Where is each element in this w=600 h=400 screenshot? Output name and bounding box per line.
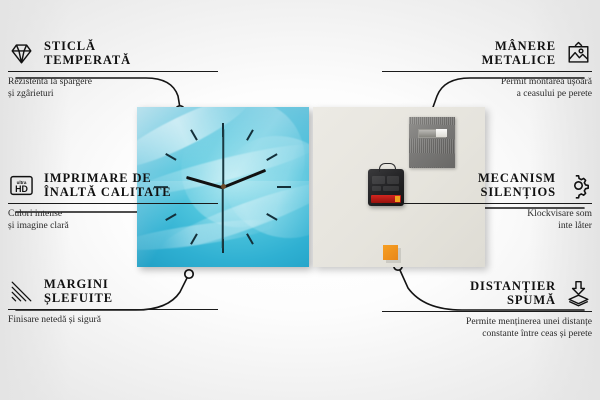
feature-title: DISTANȚIER [470, 280, 556, 294]
callout-metal-handles: MÂNERE METALICE Permit montarea ușoară a… [382, 40, 592, 99]
divider [382, 71, 592, 72]
divider [8, 71, 218, 72]
callout-high-quality-print: ultra HD IMPRIMARE DE ÎNALTĂ CALITATE Cu… [8, 172, 218, 231]
endpoint-edges [185, 270, 193, 278]
mechanism-hanger [379, 163, 396, 172]
feature-desc: și imagine clară [8, 220, 218, 231]
feature-title: TEMPERATĂ [44, 54, 131, 68]
metal-hanger-swatch [409, 117, 455, 168]
feature-desc: constante între ceas și perete [382, 328, 592, 339]
gear-icon [565, 172, 592, 199]
callout-silent-mechanism: MECANISM SILENȚIOS Klockvisare som inte … [382, 172, 592, 231]
infographic-canvas: STICLĂ TEMPERATĂ Rezistentă la spargere … [0, 0, 600, 400]
feature-title: ÎNALTĂ CALITATE [44, 186, 172, 200]
hatched-edge-icon [8, 278, 35, 305]
feature-desc: Klockvisare som [382, 208, 592, 219]
feature-title: IMPRIMARE DE [44, 172, 172, 186]
callout-polished-edges: MARGINI ȘLEFUITE Finisare netedă și sigu… [8, 278, 218, 326]
callout-foam-spacer: DISTANȚIER SPUMĂ Permite menținerea unei… [382, 280, 592, 339]
feature-desc: Permite menținerea unei distanțe [382, 316, 592, 327]
feature-title: MECANISM [478, 172, 556, 186]
divider [8, 309, 218, 310]
foam-spacer [383, 245, 398, 260]
feature-desc: și zgârieturi [8, 88, 218, 99]
diamond-icon [8, 40, 35, 67]
feature-title: ȘLEFUITE [44, 292, 113, 306]
callout-tempered-glass: STICLĂ TEMPERATĂ Rezistentă la spargere … [8, 40, 218, 99]
feature-title: STICLĂ [44, 40, 131, 54]
press-down-layers-icon [565, 280, 592, 307]
divider [382, 203, 592, 204]
feature-desc: Permit montarea ușoară [382, 76, 592, 87]
feature-desc: Culori intense [8, 208, 218, 219]
feature-title: MÂNERE [482, 40, 556, 54]
hanging-frame-icon [565, 40, 592, 67]
feature-desc: Finisare netedă și sigură [8, 314, 218, 325]
feature-title: METALICE [482, 54, 556, 68]
divider [382, 311, 592, 312]
feature-title: SILENȚIOS [478, 186, 556, 200]
feature-title: MARGINI [44, 278, 113, 292]
feature-desc: a ceasului pe perete [382, 88, 592, 99]
feature-desc: Rezistentă la spargere [8, 76, 218, 87]
icon-text-hd: HD [15, 184, 28, 194]
feature-desc: inte låter [382, 220, 592, 231]
ultra-hd-icon: ultra HD [8, 172, 35, 199]
divider [8, 203, 218, 204]
feature-title: SPUMĂ [470, 294, 556, 308]
metal-bracket [418, 129, 446, 138]
